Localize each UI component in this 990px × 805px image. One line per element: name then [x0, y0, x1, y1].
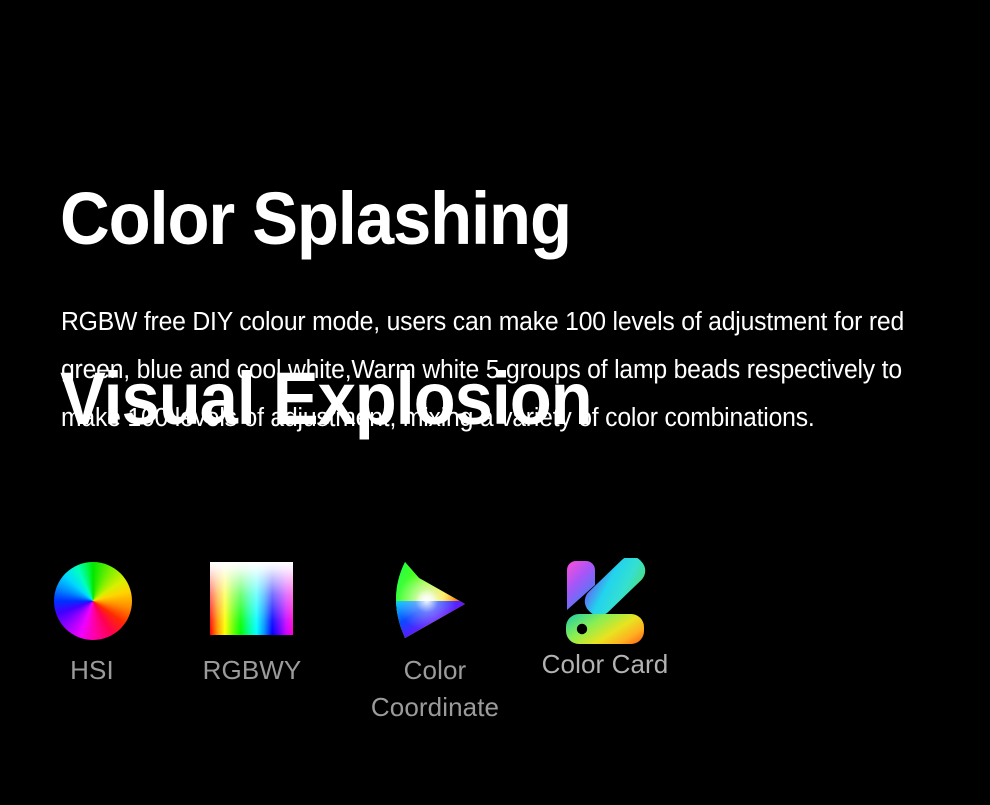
feature-label-color-coordinate: Color Coordinate: [345, 652, 525, 726]
color-card-icon: [555, 558, 655, 646]
color-wheel-icon: [54, 562, 132, 640]
color-card-dot: [577, 624, 587, 634]
feature-label-color-card: Color Card: [515, 646, 695, 682]
description-paragraph: RGBW free DIY colour mode, users can mak…: [61, 298, 924, 442]
feature-item-color-card[interactable]: Color Card: [515, 540, 695, 770]
feature-label-hsi: HSI: [2, 652, 182, 688]
feature-icon-box: [2, 540, 182, 648]
feature-icon-row: HSI RGBWY: [0, 540, 990, 780]
page-title-line-1: Color Splashing: [60, 174, 878, 264]
feature-icon-box: [515, 540, 695, 648]
color-square-icon: [210, 562, 293, 635]
feature-label-rgbwy: RGBWY: [162, 652, 342, 688]
feature-icon-box: [162, 540, 342, 648]
feature-icon-box: [345, 540, 525, 648]
feature-item-color-coordinate[interactable]: Color Coordinate: [345, 540, 525, 770]
chromaticity-diagram-icon: [389, 558, 475, 644]
feature-item-rgbwy[interactable]: RGBWY: [162, 540, 342, 770]
feature-item-hsi[interactable]: HSI: [2, 540, 182, 770]
promo-banner: Color Splashing Visual Explosion RGBW fr…: [0, 0, 990, 805]
